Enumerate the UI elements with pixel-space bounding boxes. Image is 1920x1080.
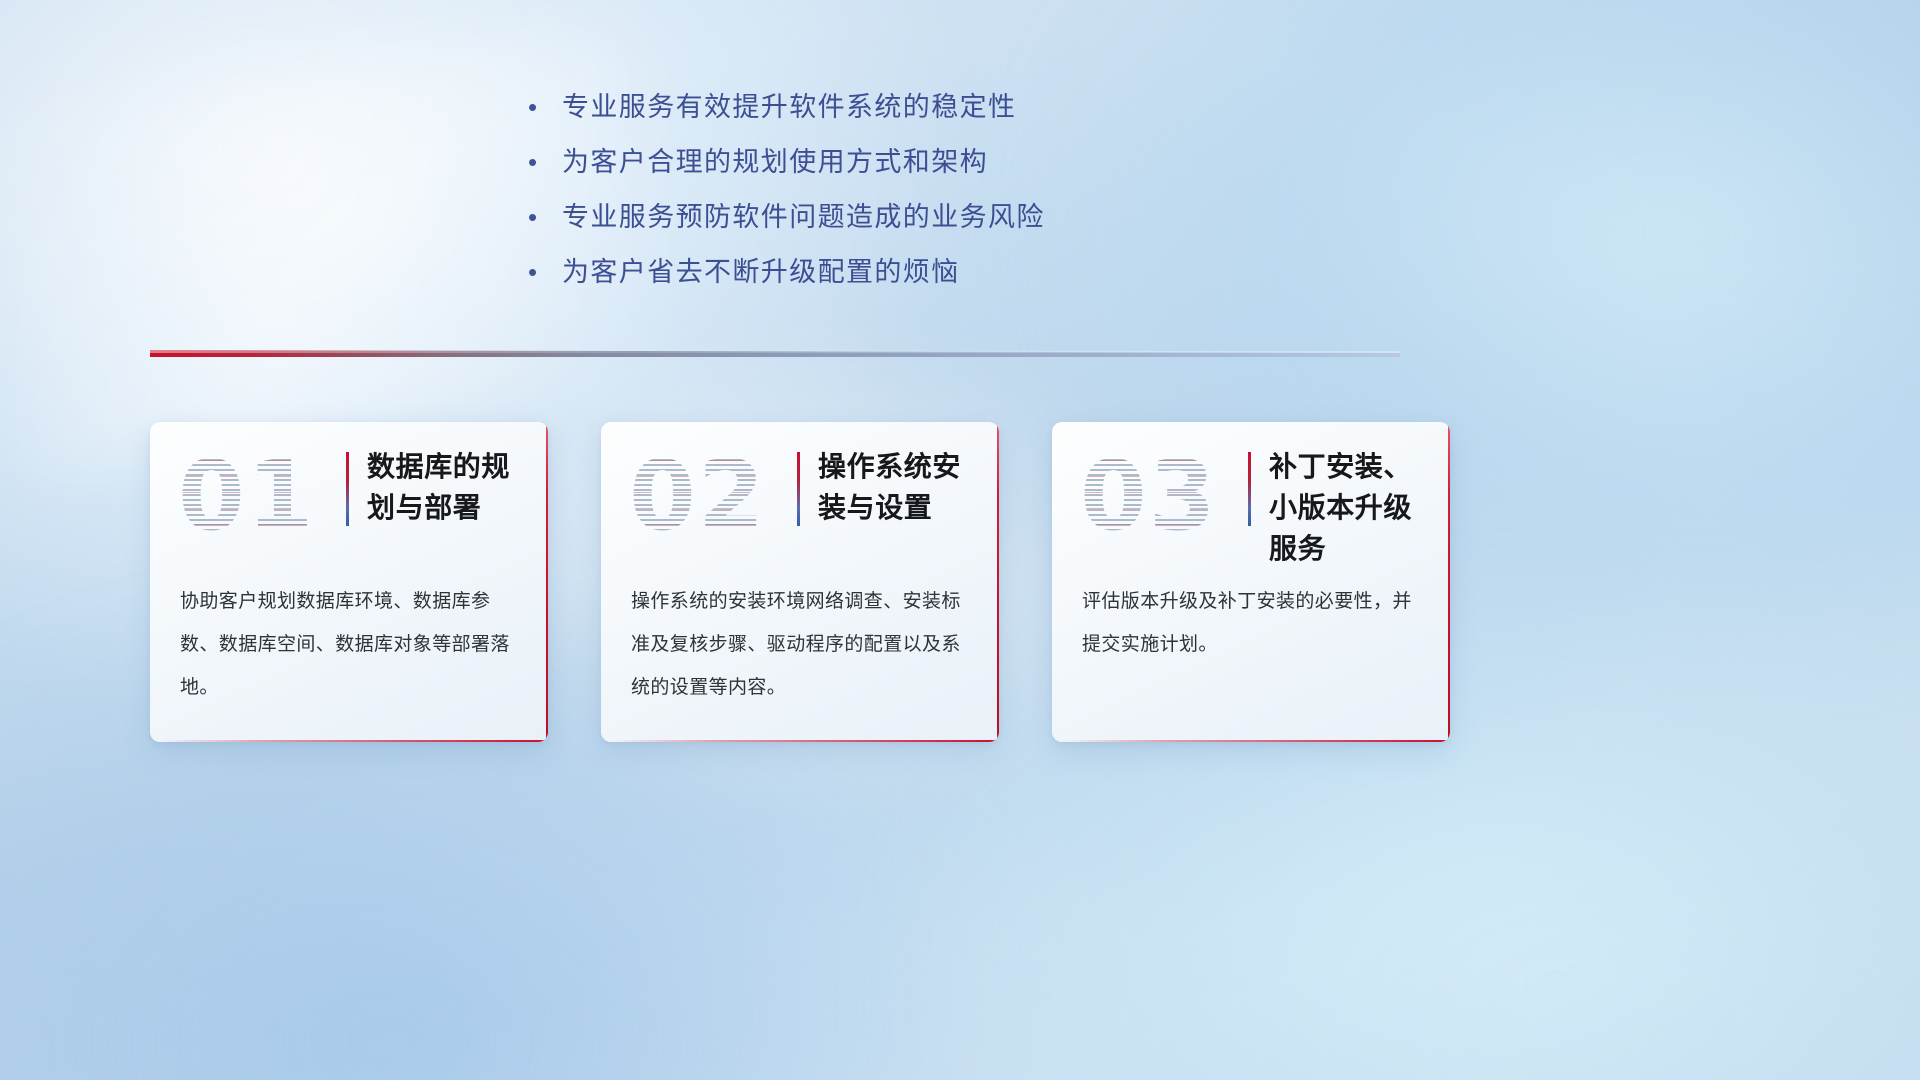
list-item: • 为客户合理的规划使用方式和架构 [520,143,1220,181]
card-title-block: 操作系统安装与设置 [797,446,985,528]
card-title: 数据库的规划与部署 [367,446,534,528]
card-number: 02 [629,444,779,549]
card-description: 操作系统的安装环境网络调查、安装标准及复核步骤、驱动程序的配置以及系统的设置等内… [631,580,975,709]
bullet-dot-icon: • [520,253,562,291]
service-card-02[interactable]: 02 02 操作系统安装与设置 操作系统的安装环境网络调查、安装标准及复核步骤、… [601,422,999,742]
card-number: 03 [1080,444,1230,549]
title-accent-bar-icon [797,452,800,526]
card-number: 01 [178,444,328,549]
title-accent-bar-icon [1248,452,1251,526]
service-card-03[interactable]: 03 03 补丁安装、小版本升级服务 评估版本升级及补丁安装的必要性，并提交实施… [1052,422,1450,742]
bullet-dot-icon: • [520,143,562,181]
section-divider [150,348,1400,360]
bullet-text: 专业服务有效提升软件系统的稳定性 [562,88,1016,126]
bullet-dot-icon: • [520,198,562,236]
card-description: 协助客户规划数据库环境、数据库参数、数据库空间、数据库对象等部署落地。 [180,580,524,709]
card-title: 补丁安装、小版本升级服务 [1269,446,1436,569]
list-item: • 为客户省去不断升级配置的烦恼 [520,253,1220,291]
list-item: • 专业服务有效提升软件系统的稳定性 [520,88,1220,126]
divider-sheen [150,350,1400,353]
list-item: • 专业服务预防软件问题造成的业务风险 [520,198,1220,236]
bullet-text: 专业服务预防软件问题造成的业务风险 [562,198,1045,236]
bullet-dot-icon: • [520,88,562,126]
card-title-block: 补丁安装、小版本升级服务 [1248,446,1436,569]
bullet-text: 为客户省去不断升级配置的烦恼 [562,253,960,291]
bullet-list: • 专业服务有效提升软件系统的稳定性 • 为客户合理的规划使用方式和架构 • 专… [520,88,1220,308]
card-row: 01 01 数据库的规划与部署 协助客户规划数据库环境、数据库参数、数据库空间、… [150,422,1450,747]
card-title: 操作系统安装与设置 [818,446,985,528]
title-accent-bar-icon [346,452,349,526]
card-title-block: 数据库的规划与部署 [346,446,534,528]
bullet-text: 为客户合理的规划使用方式和架构 [562,143,988,181]
service-card-01[interactable]: 01 01 数据库的规划与部署 协助客户规划数据库环境、数据库参数、数据库空间、… [150,422,548,742]
card-description: 评估版本升级及补丁安装的必要性，并提交实施计划。 [1082,580,1426,666]
